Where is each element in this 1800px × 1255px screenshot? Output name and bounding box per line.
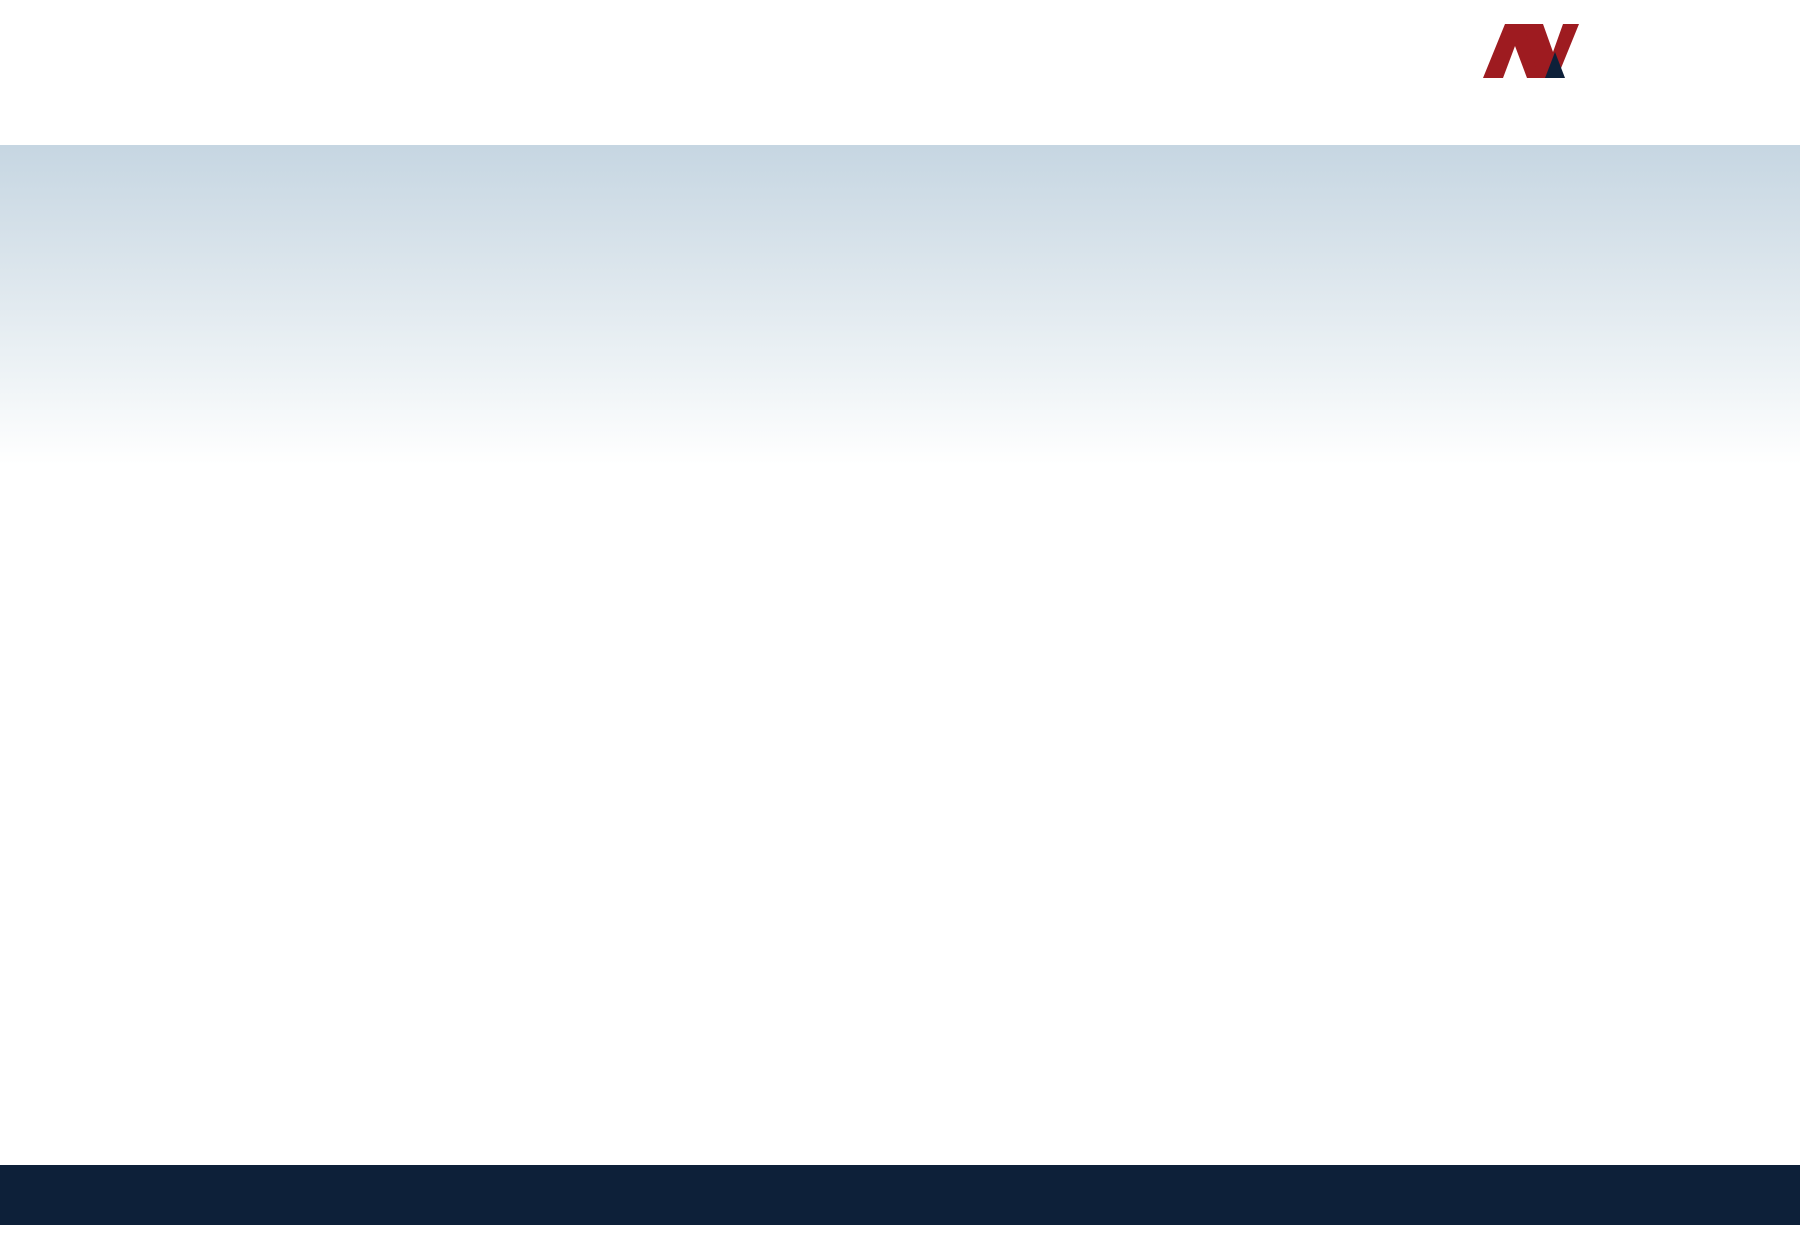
tactics-matrix	[118, 675, 1688, 1157]
technique-ids-row	[118, 1077, 1688, 1157]
scenario-page	[0, 0, 1800, 1255]
tactics-body-row	[118, 747, 1688, 1077]
page-footer	[0, 1165, 1800, 1225]
tactics-header-row	[118, 675, 1688, 747]
page-content	[0, 0, 1800, 1255]
